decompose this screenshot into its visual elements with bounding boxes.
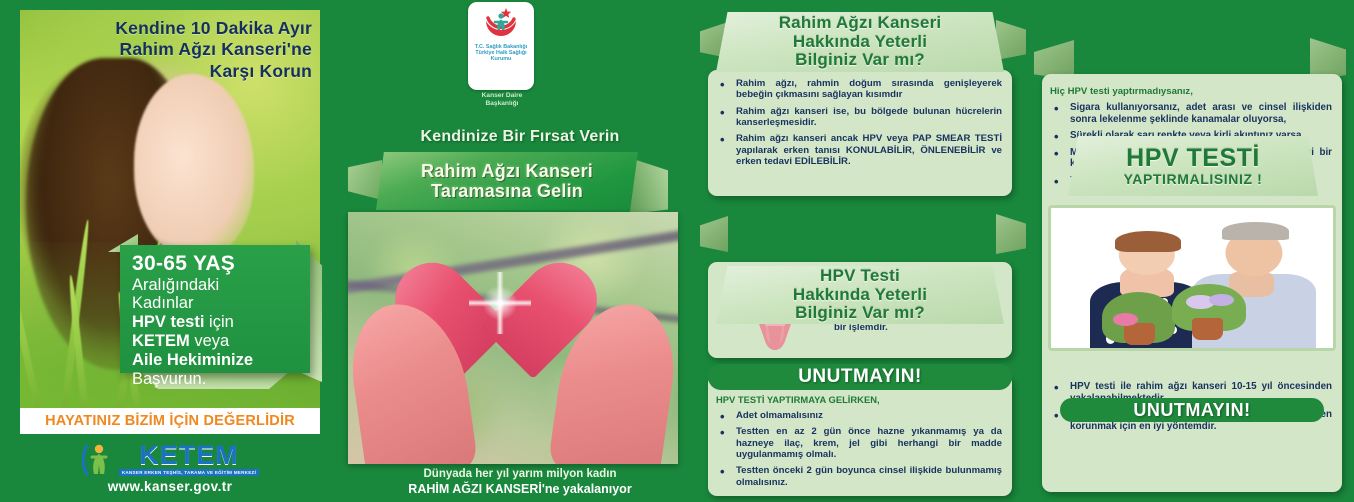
slogan-text: HAYATINIZ BİZİM İÇİN DEĞERLİDİR [45, 413, 295, 429]
elderly-couple-photo [1048, 205, 1336, 351]
risk-lead-text: Hiç HPV testi yaptırmadıysanız, [1050, 86, 1332, 97]
callout-line-3: Kadınlar [132, 294, 300, 313]
hpv-test-preparation-card: HPV TESTİ YAPTIRMAYA GELİRKEN, Adet olma… [708, 374, 1012, 496]
list-item: Testten en az 2 gün önce hazne yıkanmamı… [716, 426, 1002, 460]
unutmayin-badge: UNUTMAYIN! [708, 364, 1012, 390]
preparation-bullet-list: Adet olmamalısınız Testten en az 2 gün ö… [716, 410, 1002, 488]
hands-holding-heart-photo [348, 212, 678, 464]
ketem-logo-area: KETEM KANSER ERKEN TEŞHİS, TARAMA VE EĞİ… [20, 434, 320, 502]
title-line-2: YAPTIRMALISINIZ ! [1124, 172, 1263, 187]
department-label: Kanser Daire Başkanlığı [455, 92, 549, 108]
title-line-2: Hakkında Yeterli [793, 286, 927, 305]
card-body: Rahim ağzı, rahmin doğum sırasında geniş… [708, 70, 1012, 180]
panel2-footer: Dünyada her yıl yarım milyon kadın RAHİM… [340, 468, 700, 497]
list-item: Testten önceki 2 gün boyunca cinsel iliş… [716, 465, 1002, 488]
callout-hpv-bold: HPV testi [132, 313, 204, 331]
ministry-of-health-logo: T.C. Sağlık Bakanlığı Türkiye Halk Sağlı… [468, 2, 534, 90]
banner-line-2: Taramasına Gelin [431, 181, 583, 201]
flower-pot [1192, 318, 1223, 340]
hpv-test-required-title: HPV TESTİ YAPTIRMALISINIZ ! [1068, 136, 1318, 196]
department-line-2: Başkanlığı [455, 100, 549, 108]
flower-pot [1124, 323, 1155, 345]
ketem-figure-icon [81, 443, 115, 477]
ketem-subtitle: KANSER ERKEN TEŞHİS, TARAMA VE EĞİTİM ME… [119, 469, 259, 476]
hpv-test-knowledge-title: HPV Testi Hakkında Yeterli Bilginiz Var … [716, 266, 1004, 324]
callout-age-range: 30-65 YAŞ [132, 253, 300, 276]
title-line-3: Bilginiz Var mı? [795, 304, 925, 323]
woman-hair [1115, 231, 1180, 252]
callout-line-2: Aralığındaki [132, 276, 300, 295]
list-item: Sigara kullanıyorsanız, adet arası ve ci… [1050, 102, 1332, 125]
badge-label: UNUTMAYIN! [1133, 400, 1250, 421]
footer-line-1: Dünyada her yıl yarım milyon kadın [340, 468, 700, 482]
slogan-bar: HAYATINIZ BİZİM İÇİN DEĞERLİDİR [20, 408, 320, 434]
panel2-subtitle: Kendinize Bir Fırsat Verin [340, 128, 700, 146]
preparation-lead-text: HPV TESTİ YAPTIRMAYA GELİRKEN, [716, 394, 1002, 405]
list-item: Rahim ağzı, rahmin doğum sırasında geniş… [716, 78, 1002, 101]
list-item: Adet olmamalısınız [716, 410, 1002, 421]
ketem-name: KETEM [139, 443, 239, 469]
callout-line-7: Başvurun. [132, 370, 300, 389]
badge-label: UNUTMAYIN! [798, 366, 922, 388]
ketem-logo: KETEM KANSER ERKEN TEŞHİS, TARAMA VE EĞİ… [81, 443, 259, 477]
footer-line-2: RAHİM AĞZI KANSERİ'ne yakalanıyor [340, 482, 700, 497]
title-line-3: Bilginiz Var mı? [795, 51, 925, 70]
screening-invitation-banner: Rahim Ağzı Kanseri Taramasına Gelin [376, 152, 638, 210]
department-line-1: Kanser Daire [455, 92, 549, 100]
sparkle-icon [469, 272, 531, 334]
callout-line-6: Aile Hekiminize [132, 351, 300, 370]
ketem-wordmark: KETEM KANSER ERKEN TEŞHİS, TARAMA VE EĞİ… [119, 443, 259, 477]
flower-bloom [1113, 313, 1138, 326]
man-hair [1222, 222, 1289, 240]
title-line-1: Rahim Ağzı Kanseri [779, 14, 942, 33]
title-line-2: Hakkında Yeterli [793, 33, 927, 52]
title-line-1: HPV TESTİ [1126, 145, 1260, 173]
headline-line-1: Kendine 10 Dakika Ayır [40, 18, 312, 39]
callout-ketem-rest: veya [190, 332, 229, 350]
title-line-1: HPV Testi [820, 267, 900, 286]
unutmayin-badge: UNUTMAYIN! [1060, 398, 1324, 422]
card-body: HPV TESTİ YAPTIRMAYA GELİRKEN, Adet olma… [708, 374, 1012, 501]
panel1-headline: Kendine 10 Dakika Ayır Rahim Ağzı Kanser… [40, 18, 312, 82]
ministry-line-3: Kurumu [491, 56, 512, 62]
ketem-website-url[interactable]: www.kanser.gov.tr [108, 479, 233, 494]
callout-ketem-bold: KETEM [132, 332, 190, 350]
panel-awareness: Kendine 10 Dakika Ayır Rahim Ağzı Kanser… [0, 0, 340, 502]
cervical-cancer-bullet-list: Rahim ağzı, rahmin doğum sırasında geniş… [716, 78, 1002, 167]
banner-line-1: Rahim Ağzı Kanseri [421, 161, 593, 181]
age-range-callout: 30-65 YAŞ Aralığındaki Kadınlar HPV test… [120, 245, 310, 373]
callout-line-4: HPV testi için [132, 313, 300, 332]
ministry-emblem-icon [482, 7, 520, 43]
list-item: Rahim ağzı kanseri ancak HPV veya PAP SM… [716, 133, 1002, 167]
list-item: Rahim ağzı kanseri ise, bu bölgede bulun… [716, 106, 1002, 129]
photo-face-shape [134, 74, 254, 258]
brochure-poster: Kendine 10 Dakika Ayır Rahim Ağzı Kanser… [0, 0, 1354, 502]
cervical-cancer-info-card: Rahim ağzı, rahmin doğum sırasında geniş… [708, 70, 1012, 196]
headline-line-3: Karşı Korun [40, 61, 312, 82]
cervical-cancer-knowledge-title: Rahim Ağzı Kanseri Hakkında Yeterli Bilg… [716, 12, 1004, 72]
callout-hpv-rest: için [204, 313, 233, 331]
callout-line-5: KETEM veya [132, 332, 300, 351]
headline-line-2: Rahim Ağzı Kanseri'ne [40, 39, 312, 60]
